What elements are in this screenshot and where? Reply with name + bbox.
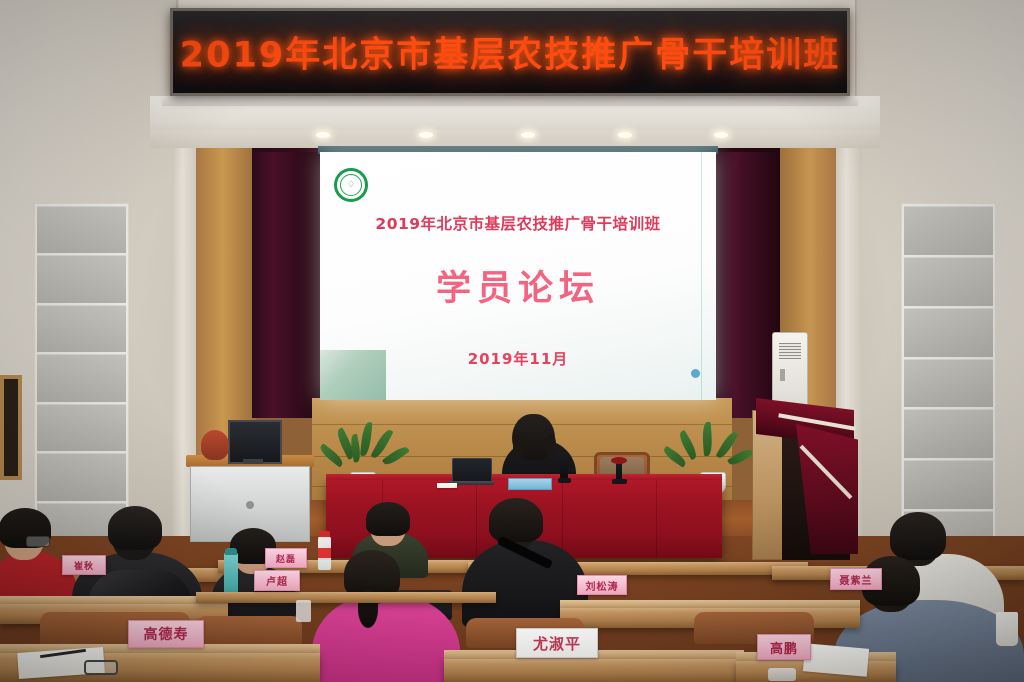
- speaker-hair-side: [546, 434, 556, 460]
- speaker-hair-side: [513, 434, 522, 460]
- acoustic-panel-cell: [904, 409, 993, 458]
- acoustic-panel-cell: [37, 305, 126, 352]
- microphone-base: [612, 479, 627, 484]
- acoustic-panel-cell: [904, 460, 993, 509]
- name-placard: 高德寿: [128, 620, 204, 648]
- acoustic-panel-cell: [904, 206, 993, 255]
- microphone-head-icon: [611, 457, 627, 464]
- attendee-strap-hair: [489, 498, 543, 542]
- acoustic-panel-cell: [904, 359, 993, 408]
- acoustic-panel-cell: [37, 354, 126, 401]
- downlight-icon: [618, 132, 632, 138]
- name-placard: 聂紫兰: [830, 568, 882, 590]
- name-placard: 尤淑平: [516, 628, 598, 658]
- ac-vent: [779, 343, 801, 359]
- attendee-puffer-hair: [108, 506, 162, 550]
- acoustic-panel-cell: [37, 453, 126, 500]
- logo-inner-mark: ♢: [340, 174, 362, 196]
- attendee-camo-hair: [366, 502, 410, 536]
- white-cup: [996, 612, 1018, 646]
- conference-hall-photo: 2019年北京市基层农技推广骨干培训班 ♢ 2019年北京市基层农技推广骨干培训…: [0, 0, 1024, 682]
- desk-nameplate-stage: [508, 478, 552, 490]
- slide-title: 2019年北京市基层农技推广骨干培训班: [320, 212, 716, 234]
- name-placard: 刘松涛: [577, 575, 627, 595]
- slide-corner-photo: [320, 350, 386, 400]
- acoustic-panel-cell: [904, 257, 993, 306]
- acoustic-panel-cell: [904, 308, 993, 357]
- podium-knob: [246, 501, 254, 509]
- water-bottle-center: [296, 600, 311, 622]
- podium-chair-back: [201, 430, 229, 460]
- desk-row-mid-center: [196, 592, 496, 603]
- plant-left: [336, 420, 394, 480]
- bottle-label: [318, 548, 331, 558]
- bottle-cap: [319, 531, 330, 537]
- wall-picture-frame: [0, 375, 22, 480]
- thermos-cap: [225, 548, 237, 555]
- slide-accent-dot: [691, 369, 700, 378]
- downlight-icon: [316, 132, 330, 138]
- acoustic-panel-cell: [37, 206, 126, 253]
- name-placard: 高鹏: [757, 634, 811, 660]
- stage-curtain-right: [716, 118, 780, 418]
- banner-ledge: [162, 96, 858, 106]
- acoustic-panel-cell: [37, 404, 126, 451]
- podium-monitor[interactable]: [228, 420, 282, 464]
- acoustic-panel-cell: [37, 255, 126, 302]
- microphone-left[interactable]: [560, 452, 568, 480]
- projection-screen: ♢ 2019年北京市基层农技推广骨干培训班 学员论坛 2019年11月: [320, 152, 716, 400]
- glasses-icon: [26, 536, 50, 547]
- acoustic-panel-right: [901, 203, 996, 563]
- ac-indicator: [780, 369, 785, 381]
- acoustic-panel-left: [34, 203, 129, 553]
- microphone-base: [558, 478, 571, 483]
- name-placard: 赵磊: [265, 548, 307, 568]
- paper-front-right: [803, 643, 869, 676]
- name-placard: 卢超: [254, 570, 300, 591]
- stage-curtain-left: [252, 118, 320, 418]
- slide-headline: 学员论坛: [320, 260, 716, 311]
- table-paper: [437, 483, 457, 488]
- downlight-icon: [521, 132, 535, 138]
- downlight-icon: [419, 132, 433, 138]
- monitor-stand: [243, 459, 263, 464]
- led-banner-text: 2019年北京市基层农技推广骨干培训班: [173, 27, 847, 78]
- led-banner: 2019年北京市基层农技推广骨干培训班: [170, 8, 850, 96]
- attendee-white-hair: [890, 512, 946, 560]
- downlight-icon: [714, 132, 728, 138]
- phone: [768, 668, 796, 681]
- organization-logo-icon: ♢: [334, 168, 368, 202]
- reading-glasses-icon: [84, 660, 118, 675]
- thermos: [224, 552, 238, 596]
- name-placard: 崔秋: [62, 555, 106, 575]
- desk-front-center: [444, 659, 744, 682]
